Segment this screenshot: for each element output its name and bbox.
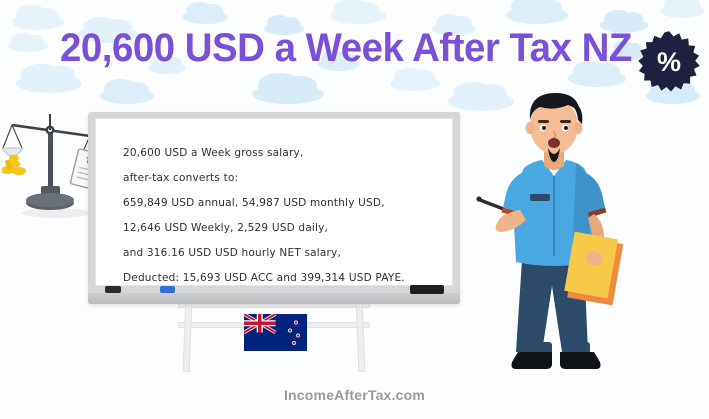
poster-canvas: 20,600 USD a Week After Tax NZ %: [0, 0, 709, 419]
whiteboard-surface: 20,600 USD a Week gross salary,after-tax…: [95, 118, 453, 286]
whiteboard: 20,600 USD a Week gross salary,after-tax…: [88, 112, 460, 304]
cloud-6: [506, 6, 568, 24]
cloud-16: [8, 40, 48, 52]
marker-black-icon: [105, 286, 121, 293]
cloud-8: [660, 4, 704, 18]
stand-leg-right: [356, 300, 366, 372]
whiteboard-frame: 20,600 USD a Week gross salary,after-tax…: [88, 112, 460, 304]
whiteboard-line-4: and 316.16 USD USD hourly NET salary,: [123, 241, 436, 266]
cloud-10: [100, 88, 154, 104]
percent-symbol: %: [637, 30, 701, 94]
presenter-character-icon: [470, 90, 640, 380]
whiteboard-line-2: 659,849 USD annual, 54,987 USD monthly U…: [123, 191, 436, 216]
stand-leg-left: [183, 300, 193, 372]
cloud-9: [16, 74, 82, 93]
cloud-12: [390, 76, 440, 91]
percent-badge: %: [637, 30, 701, 94]
whiteboard-line-1: after-tax converts to:: [123, 166, 436, 191]
cloud-0: [12, 14, 64, 30]
eraser-icon: [410, 285, 444, 294]
whiteboard-text: 20,600 USD a Week gross salary,after-tax…: [123, 141, 436, 291]
whiteboard-line-0: 20,600 USD a Week gross salary,: [123, 141, 436, 166]
new-zealand-flag-icon: [244, 314, 307, 351]
whiteboard-tray: [88, 293, 460, 304]
marker-blue-icon: [160, 286, 175, 293]
site-footer: IncomeAfterTax.com: [0, 387, 709, 403]
cloud-4: [330, 8, 386, 24]
cloud-14: [568, 70, 626, 87]
whiteboard-line-3: 12,646 USD Weekly, 2,529 USD daily,: [123, 216, 436, 241]
cloud-11: [252, 84, 324, 104]
whiteboard-stand: [178, 300, 370, 372]
cloud-2: [182, 10, 228, 24]
page-title: 20,600 USD a Week After Tax NZ: [60, 26, 632, 71]
